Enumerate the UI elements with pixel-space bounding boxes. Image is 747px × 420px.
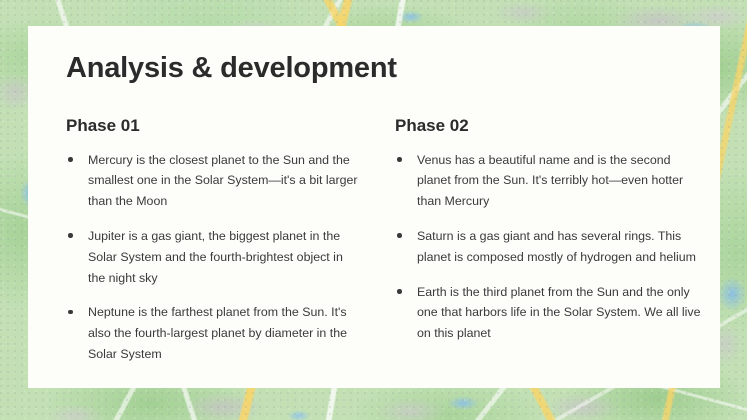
bullet-dot-icon bbox=[68, 233, 73, 238]
phase-02-bullet-list: Venus has a beautiful name and is the se… bbox=[395, 150, 705, 344]
bullet-dot-icon bbox=[68, 157, 73, 162]
phase-01-heading: Phase 01 bbox=[66, 116, 361, 136]
bullet-dot-icon bbox=[397, 289, 402, 294]
list-item-text: Neptune is the farthest planet from the … bbox=[88, 305, 347, 361]
bullet-dot-icon bbox=[397, 233, 402, 238]
list-item-text: Mercury is the closest planet to the Sun… bbox=[88, 153, 358, 209]
list-item: Venus has a beautiful name and is the se… bbox=[395, 150, 705, 212]
phase-01-bullet-list: Mercury is the closest planet to the Sun… bbox=[66, 150, 361, 365]
phase-column-01: Phase 01 Mercury is the closest planet t… bbox=[66, 116, 361, 365]
bullet-dot-icon bbox=[397, 157, 402, 162]
list-item: Earth is the third planet from the Sun a… bbox=[395, 282, 705, 344]
list-item-text: Saturn is a gas giant and has several ri… bbox=[417, 229, 696, 264]
phase-columns: Phase 01 Mercury is the closest planet t… bbox=[66, 116, 694, 365]
list-item: Jupiter is a gas giant, the biggest plan… bbox=[66, 226, 361, 288]
content-card: Analysis & development Phase 01 Mercury … bbox=[28, 26, 720, 388]
list-item-text: Earth is the third planet from the Sun a… bbox=[417, 285, 701, 341]
slide: Analysis & development Phase 01 Mercury … bbox=[0, 0, 747, 420]
list-item-text: Jupiter is a gas giant, the biggest plan… bbox=[88, 229, 343, 285]
bullet-dot-icon bbox=[68, 310, 73, 315]
phase-02-heading: Phase 02 bbox=[395, 116, 705, 136]
list-item-text: Venus has a beautiful name and is the se… bbox=[417, 153, 683, 209]
list-item: Saturn is a gas giant and has several ri… bbox=[395, 226, 705, 268]
list-item: Neptune is the farthest planet from the … bbox=[66, 302, 361, 364]
list-item: Mercury is the closest planet to the Sun… bbox=[66, 150, 361, 212]
page-title: Analysis & development bbox=[66, 53, 397, 85]
phase-column-02: Phase 02 Venus has a beautiful name and … bbox=[395, 116, 705, 365]
